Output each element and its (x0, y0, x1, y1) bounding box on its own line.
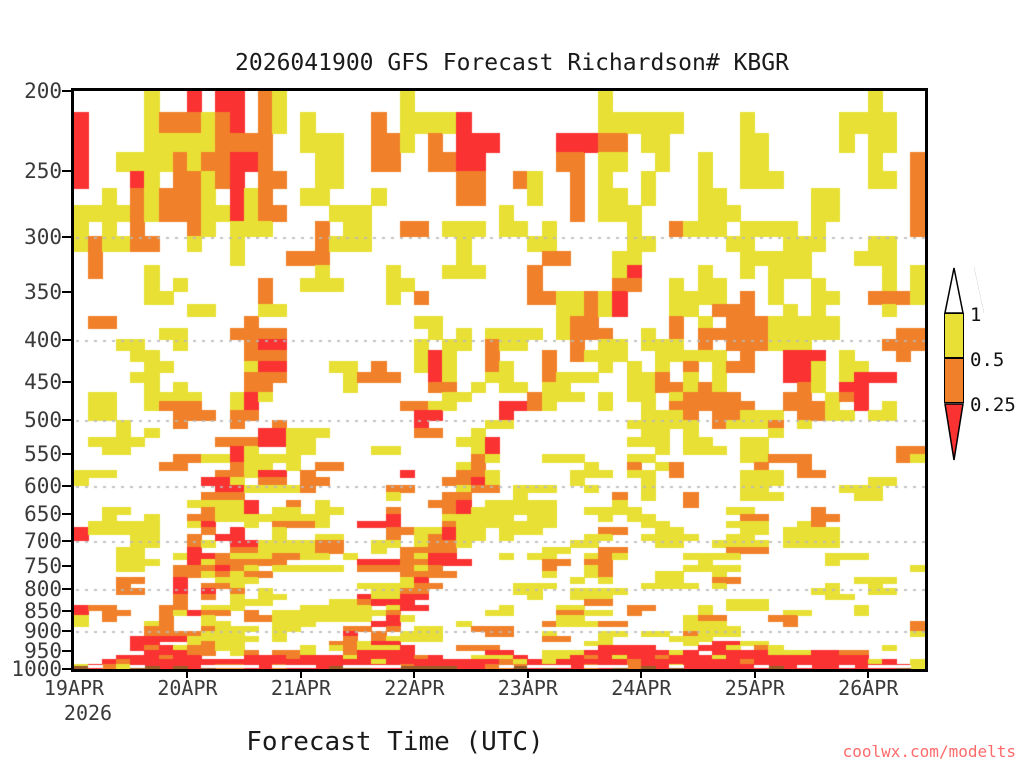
colorbar-tick-label-2: 0.25 (970, 394, 1016, 416)
y-tick-mark-500 (62, 419, 71, 421)
x-tick-mark-22apr (413, 669, 415, 678)
credit-watermark: coolwx.com/modelts (843, 742, 1016, 761)
x-axis-title: Forecast Time (UTC) (0, 727, 790, 757)
y-tick-mark-200 (62, 90, 71, 92)
x-tick-label-23apr: 23APR (498, 676, 558, 700)
x-tick-mark-24apr (640, 669, 642, 678)
x-tick-label-24apr: 24APR (611, 676, 671, 700)
x-tick-mark-21apr (300, 669, 302, 678)
x-tick-label-25apr: 25APR (725, 676, 785, 700)
x-tick-mark-26apr (867, 669, 869, 678)
x-tick-label-20apr: 20APR (157, 676, 217, 700)
x-tick-label-21apr: 21APR (271, 676, 331, 700)
colorbar-band-f0802a (944, 358, 964, 403)
y-tick-mark-850 (62, 610, 71, 612)
axis-tick-marks: 19APR20APR21APR22APR23APR24APR25APR26APR… (0, 0, 1024, 768)
y-tick-mark-750 (62, 565, 71, 567)
colorbar-band-e8e035 (944, 313, 964, 358)
y-tick-mark-600 (62, 485, 71, 487)
y-tick-mark-800 (62, 588, 71, 590)
x-tick-label-26apr: 26APR (838, 676, 898, 700)
colorbar-cap-low (944, 403, 964, 461)
x-tick-mark-23apr (527, 669, 529, 678)
y-tick-mark-350 (62, 291, 71, 293)
x-tick-label-19apr: 19APR (44, 676, 104, 700)
colorbar-tick-label-1: 0.5 (970, 349, 1004, 371)
y-tick-mark-1000 (62, 668, 71, 670)
y-tick-mark-400 (62, 339, 71, 341)
y-tick-mark-250 (62, 170, 71, 172)
y-tick-mark-300 (62, 236, 71, 238)
x-tick-mark-25apr (754, 669, 756, 678)
y-tick-mark-450 (62, 381, 71, 383)
colorbar-bands: 10.50.25 (944, 313, 964, 448)
y-tick-mark-900 (62, 630, 71, 632)
x-tick-label-22apr: 22APR (384, 676, 444, 700)
y-tick-mark-550 (62, 453, 71, 455)
y-tick-mark-650 (62, 513, 71, 515)
y-tick-mark-700 (62, 540, 71, 542)
richardson-number-timeheight-chart: 2026041900 GFS Forecast Richardson# KBGR… (0, 0, 1024, 768)
y-tick-mark-950 (62, 650, 71, 652)
colorbar-cap-high-outline (944, 267, 964, 314)
colorbar-tick-label-0: 1 (970, 304, 981, 326)
x-axis-year-label: 2026 (64, 701, 112, 725)
x-tick-mark-20apr (186, 669, 188, 678)
